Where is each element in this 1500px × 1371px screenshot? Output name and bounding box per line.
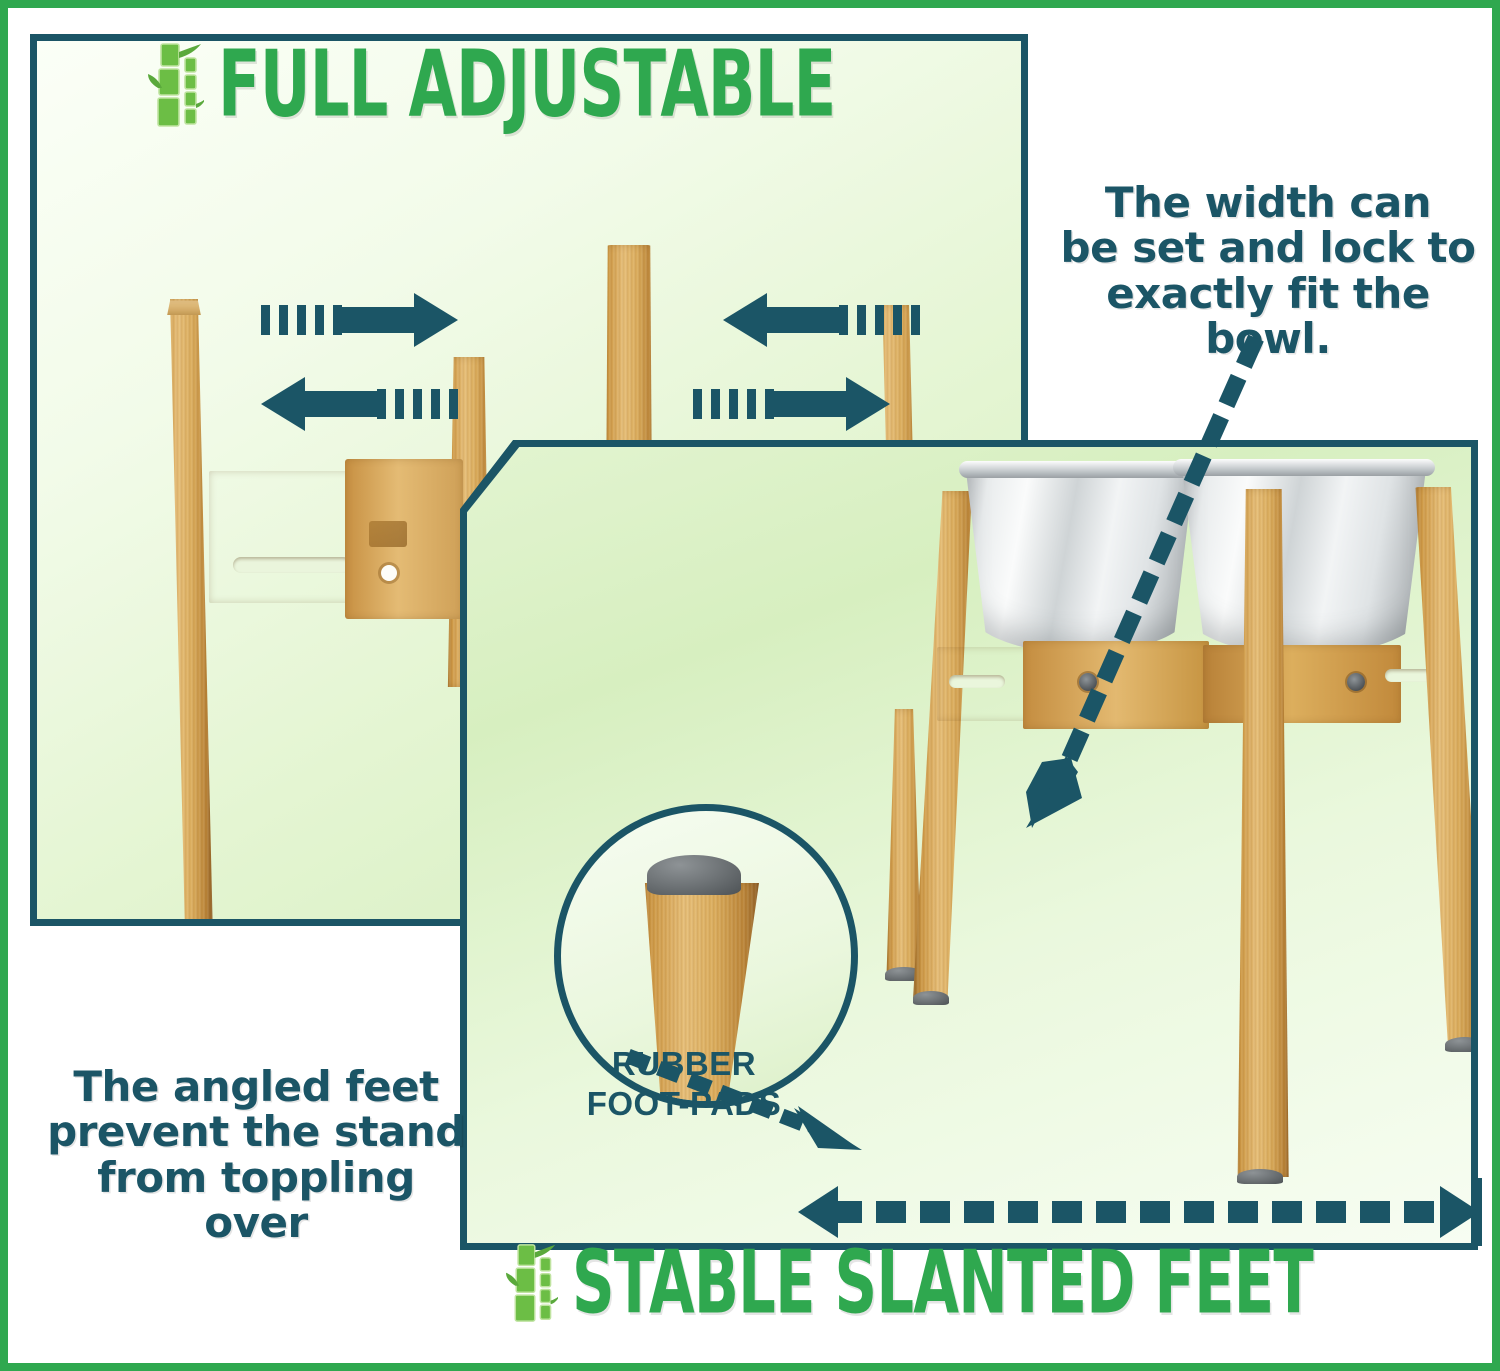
arrow-adjust-bottom-right (693, 377, 890, 431)
pointer-width-lock-icon (1008, 328, 1328, 848)
arrow-width-span-icon (788, 1174, 1488, 1250)
arrow-head-left-icon (723, 293, 767, 347)
heading-full-adjustable: FULL ADJUSTABLE (148, 40, 990, 130)
arrow-bar (767, 307, 839, 333)
arrow-bar (305, 391, 377, 417)
bamboo-icon (506, 1243, 558, 1323)
heading-stable-slanted-feet: STABLE SLANTED FEET (506, 1240, 1498, 1326)
arrow-dashes (377, 389, 458, 419)
rail-screw-hole-left (381, 565, 397, 581)
arrow-bar (342, 307, 414, 333)
arrow-bar (774, 391, 846, 417)
callout-line: The width can (1038, 180, 1498, 225)
arrow-dashes (693, 389, 774, 419)
stand-leg-front-right (1411, 487, 1478, 1047)
arrow-head-right-icon (846, 377, 890, 431)
magnified-rubber-pad (647, 855, 741, 895)
callout-line: The angled feet (46, 1064, 466, 1109)
callout-line: be set and lock to (1038, 225, 1498, 270)
callout-line: from toppling (46, 1155, 466, 1200)
callout-line: prevent the stand (46, 1109, 466, 1154)
rail-left-slot (233, 557, 351, 573)
callout-angled-feet: The angled feet prevent the stand from t… (46, 1064, 466, 1245)
rubber-foot-pad-front-left (913, 991, 949, 1005)
arrow-dashes (261, 305, 342, 335)
arrow-dashes (839, 305, 920, 335)
crossbar-slot-left (949, 675, 1005, 688)
arrow-head-right-icon (414, 293, 458, 347)
arrow-adjust-top-right (723, 293, 920, 347)
infographic-frame: FULL ADJUSTABLE STA (0, 0, 1500, 1371)
heading-text: FULL ADJUSTABLE (218, 32, 835, 138)
stand-leg-left (155, 299, 213, 926)
pointer-rubber-foot-pads-icon (622, 1048, 872, 1153)
brand-logo-mark (369, 521, 407, 547)
crossbar-lock-screw-right (1347, 673, 1365, 691)
arrow-adjust-top-left (261, 293, 458, 347)
arrow-head-left-icon (261, 377, 305, 431)
callout-line: over (46, 1200, 466, 1245)
bamboo-icon (148, 42, 204, 128)
stand-leg-front-left (913, 491, 977, 999)
arrow-adjust-bottom-left (261, 377, 458, 431)
